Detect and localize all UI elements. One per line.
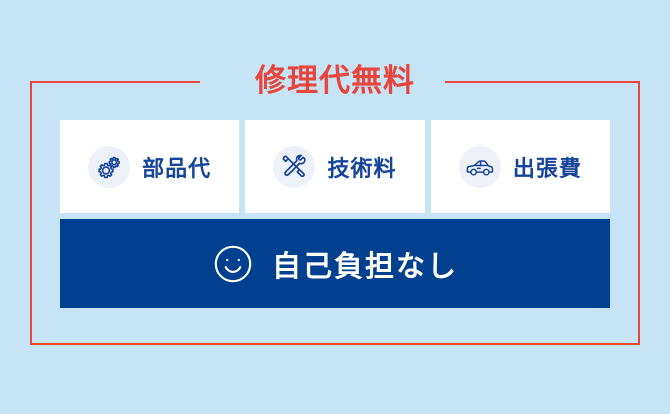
- tools-icon: [273, 146, 315, 188]
- benefit-card-callout[interactable]: 出張費: [431, 120, 610, 213]
- benefit-card-label: 出張費: [513, 151, 582, 183]
- car-icon: [459, 146, 501, 188]
- benefit-card-parts[interactable]: 部品代: [60, 120, 239, 213]
- banner-label: 自己負担なし: [272, 243, 458, 285]
- benefit-card-label: 技術料: [327, 151, 396, 183]
- page-title: 修理代無料: [0, 60, 670, 102]
- benefit-card-row: 部品代 技術料: [60, 120, 610, 213]
- smiley-face-icon: [212, 243, 254, 285]
- benefit-card-labor[interactable]: 技術料: [245, 120, 424, 213]
- no-out-of-pocket-banner[interactable]: 自己負担なし: [60, 219, 610, 308]
- gears-icon: [88, 146, 130, 188]
- benefit-card-label: 部品代: [142, 151, 211, 183]
